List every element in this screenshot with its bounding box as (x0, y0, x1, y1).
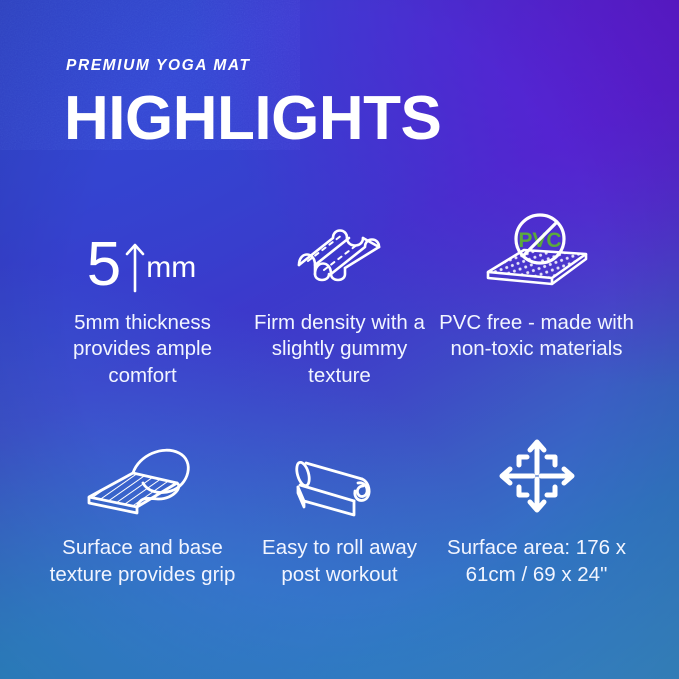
highlight-item-thickness: 5 mm 5mm thickness provides ampl (44, 208, 241, 390)
up-arrow-icon (122, 241, 148, 293)
poster-content: PREMIUM YOGA MAT HIGHLIGHTS 5 (0, 0, 679, 679)
ridged-mat-density-icon (285, 208, 395, 294)
highlight-caption: Surface and base texture provides grip (45, 535, 240, 588)
eyebrow-label: PREMIUM YOGA MAT (66, 58, 635, 74)
rolled-mat-icon (284, 433, 396, 519)
thickness-5mm-icon: 5 mm (87, 208, 198, 294)
highlight-caption: Easy to roll away post workout (242, 535, 437, 588)
highlight-caption: 5mm thickness provides ample comfort (45, 310, 240, 390)
highlight-item-roll: Easy to roll away post workout (241, 433, 438, 588)
highlight-item-density: Firm density with a slightly gummy textu… (241, 208, 438, 390)
highlight-caption: Surface area: 176 x 61cm / 69 x 24" (439, 535, 634, 588)
thickness-unit: mm (146, 253, 196, 283)
highlight-item-pvc-free: PVC PVC free - made with non-toxic mater… (438, 208, 635, 390)
promo-poster: PREMIUM YOGA MAT HIGHLIGHTS 5 (0, 0, 679, 679)
highlight-item-surface-area: Surface area: 176 x 61cm / 69 x 24" (438, 433, 635, 588)
highlight-caption: PVC free - made with non-toxic materials (439, 310, 634, 363)
highlight-item-grip: Surface and base texture provides grip (44, 433, 241, 588)
highlight-caption: Firm density with a slightly gummy textu… (242, 310, 437, 390)
expand-arrows-size-icon (491, 433, 583, 519)
page-title: HIGHLIGHTS (64, 88, 635, 150)
pvc-free-icon: PVC (478, 208, 596, 294)
textured-mat-grip-icon (81, 433, 205, 519)
highlights-grid: 5 mm 5mm thickness provides ampl (44, 208, 635, 589)
thickness-number: 5 (87, 237, 120, 293)
